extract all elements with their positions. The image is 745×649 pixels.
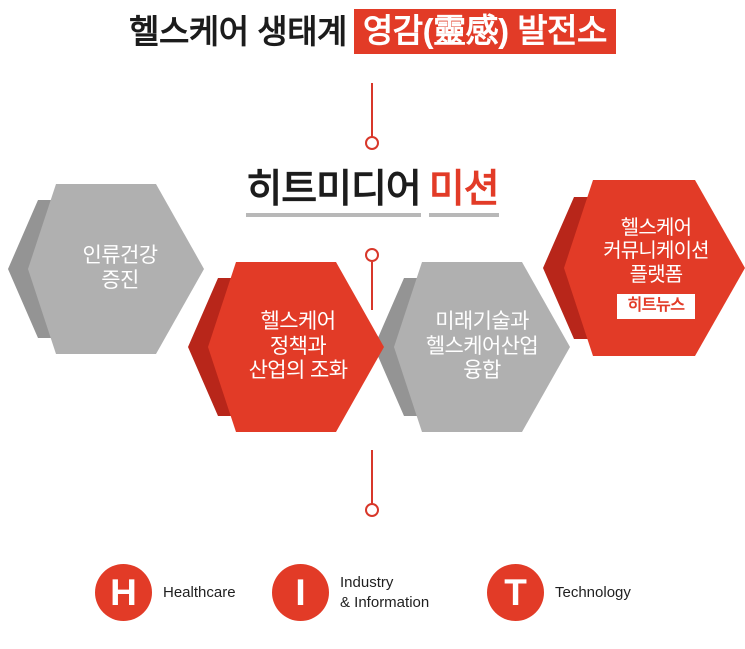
legend-initial-h-icon: H	[95, 564, 152, 621]
mission-accent-label: 미션	[429, 168, 499, 217]
legend-label-industry-information: Industry & Information	[340, 573, 429, 613]
hexagon-future-tech-convergence[interactable]: 미래기술과 헬스케어산업 융합	[374, 262, 570, 432]
connector-dot-top	[365, 136, 379, 150]
page-title: 헬스케어 생태계영감(靈感) 발전소	[0, 9, 745, 54]
legend-initial-i-icon: I	[272, 564, 329, 621]
hexagon-body	[28, 184, 204, 354]
connector-line-bottom	[371, 450, 373, 507]
connector-line-top	[371, 83, 373, 141]
hexagon-policy-industry-harmony[interactable]: 헬스케어 정책과 산업의 조화	[188, 262, 384, 432]
mission-title: 히트미디어미션	[0, 170, 745, 209]
page-title-highlight: 영감(靈感) 발전소	[354, 9, 616, 54]
legend: H Healthcare I Industry & Information T …	[0, 558, 745, 632]
connector-dot-middle	[365, 248, 379, 262]
legend-label-technology: Technology	[555, 583, 631, 603]
mission-brand-label: 히트미디어	[246, 168, 420, 217]
legend-item-technology[interactable]: T Technology	[487, 564, 631, 621]
hexagon-human-health[interactable]: 인류건강 증진	[8, 184, 204, 354]
connector-dot-bottom	[365, 503, 379, 517]
legend-initial-t-icon: T	[487, 564, 544, 621]
legend-item-industry-information[interactable]: I Industry & Information	[272, 564, 429, 621]
legend-label-healthcare: Healthcare	[163, 583, 236, 603]
legend-item-healthcare[interactable]: H Healthcare	[95, 564, 236, 621]
page-title-plain: 헬스케어 생태계	[129, 15, 347, 48]
hexagon-body	[208, 262, 384, 432]
